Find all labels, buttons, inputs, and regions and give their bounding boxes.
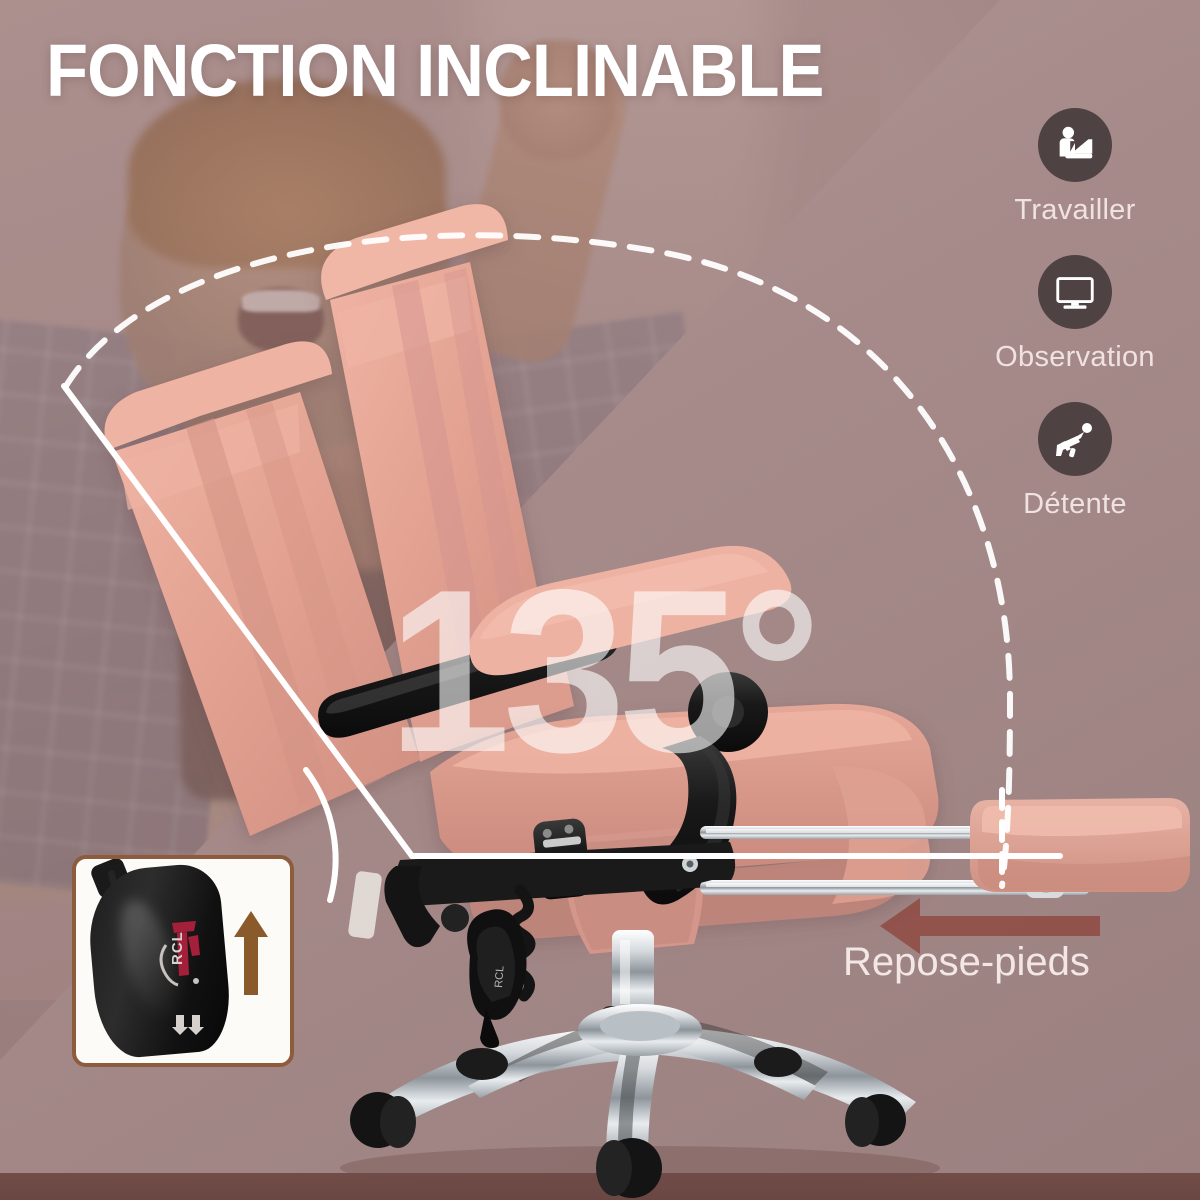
angle-line-backrest	[64, 386, 412, 856]
feature-item-detente: Détente	[1023, 402, 1127, 521]
product-feature-banner: RCL	[0, 0, 1200, 1200]
tv-monitor-icon	[1038, 255, 1112, 329]
feature-item-travailler: Travailler	[1014, 108, 1135, 227]
recline-pictogram-icon	[146, 915, 216, 1015]
feature-label: Détente	[1023, 488, 1127, 521]
feature-item-observation: Observation	[995, 255, 1155, 374]
footrest-label: Repose-pieds	[843, 940, 1090, 985]
person-at-laptop-icon	[1038, 108, 1112, 182]
feature-label: Travailler	[1014, 194, 1135, 227]
lever-rcl-label: RCL	[169, 931, 186, 965]
recline-angle-value: 135°	[388, 556, 813, 788]
feature-label: Observation	[995, 341, 1155, 374]
person-reclining-icon	[1038, 402, 1112, 476]
recline-lever-detail-inset: RCL	[72, 855, 294, 1067]
feature-list: Travailler Observation	[960, 108, 1190, 521]
page-title: FONCTION INCLINABLE	[46, 34, 824, 108]
angle-vertex-arc	[306, 770, 336, 900]
arrow-up-icon	[234, 911, 268, 995]
lever-double-arrow-icon	[162, 1011, 214, 1037]
